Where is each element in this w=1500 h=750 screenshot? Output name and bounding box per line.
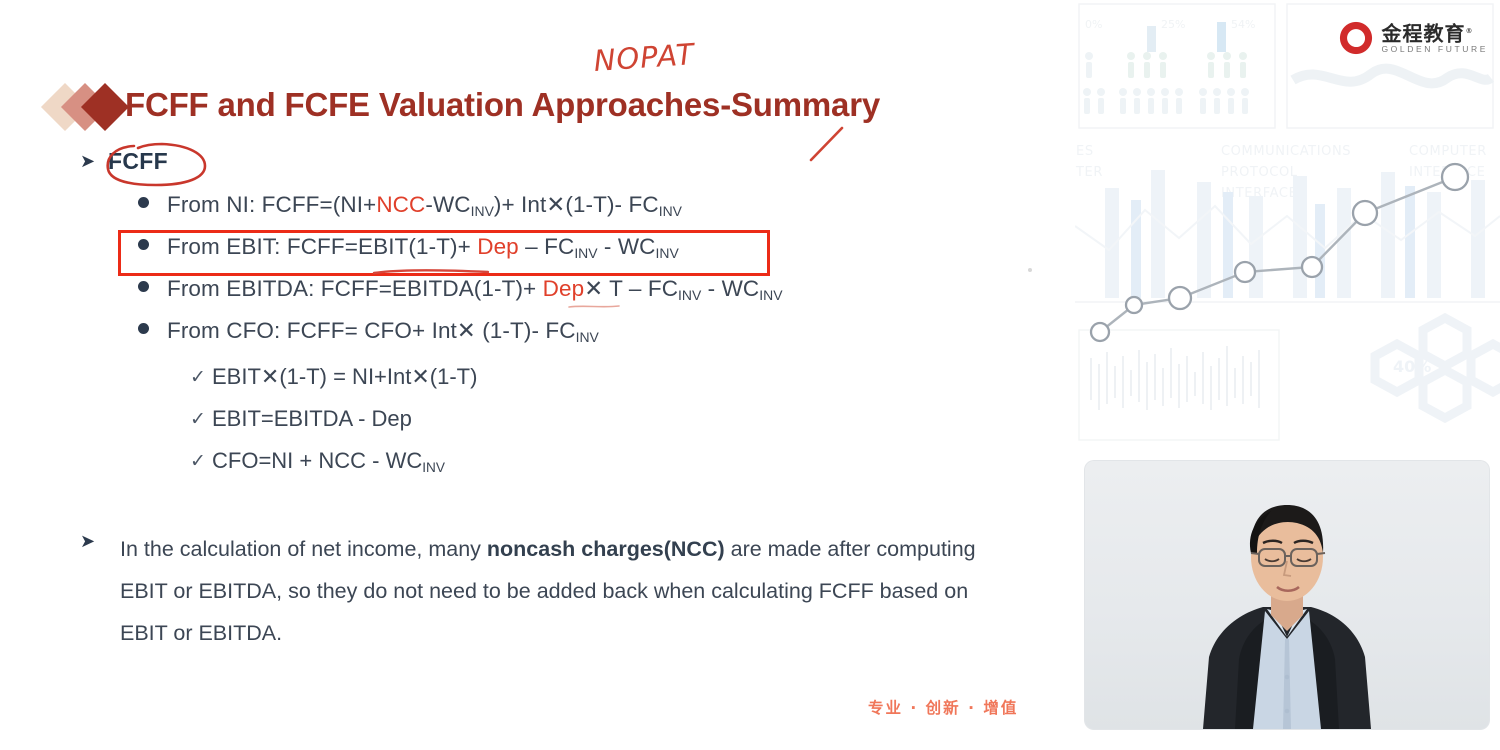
logo-chinese-name: 金程教育® bbox=[1381, 21, 1488, 45]
checkmark-icon: ✓ bbox=[190, 450, 212, 473]
handwritten-smudge-annotation bbox=[568, 304, 620, 309]
list-item: From CFO: FCFF= CFO+ Int✕ (1-T)- FCINV bbox=[138, 318, 898, 360]
page-title: FCFF and FCFE Valuation Approaches-Summa… bbox=[125, 86, 880, 124]
handwritten-slash-annotation bbox=[808, 126, 846, 162]
checkmark-icon: ✓ bbox=[190, 408, 212, 431]
list-item: From EBITDA: FCFF=EBITDA(1-T)+ Dep✕ T – … bbox=[138, 276, 898, 318]
svg-text:TER: TER bbox=[1075, 165, 1103, 180]
summary-paragraph-block: ➤ In the calculation of net income, many… bbox=[80, 528, 1000, 654]
svg-text:COMPUTER: COMPUTER bbox=[1409, 144, 1487, 159]
brand-logo: G 金程教育® GOLDEN FUTURE bbox=[1338, 20, 1488, 56]
handwritten-underline-annotation bbox=[372, 268, 490, 275]
svg-text:COMMUNICATIONS: COMMUNICATIONS bbox=[1221, 144, 1351, 159]
svg-text:ES: ES bbox=[1076, 144, 1094, 159]
bullet-text: From EBITDA: FCFF=EBITDA(1-T)+ Dep✕ T – … bbox=[167, 276, 783, 302]
webcam-video-feed[interactable] bbox=[1085, 461, 1489, 729]
identity-check-list: ✓ EBIT✕(1-T) = NI+Int✕(1-T) ✓ EBIT=EBITD… bbox=[190, 364, 477, 490]
formula-bullet-list: From NI: FCFF=(NI+NCC-WCINV)+ Int✕(1-T)-… bbox=[138, 192, 898, 360]
logo-monogram: G bbox=[1338, 20, 1374, 56]
arrow-bullet-icon: ➤ bbox=[80, 148, 98, 170]
stray-dot-mark bbox=[1028, 268, 1032, 272]
list-item: ✓ CFO=NI + NCC - WCINV bbox=[190, 448, 477, 490]
list-item: ✓ EBIT=EBITDA - Dep bbox=[190, 406, 477, 448]
logo-english-name: GOLDEN FUTURE bbox=[1381, 44, 1488, 55]
bullet-dot-icon bbox=[138, 281, 149, 292]
right-panel: 0%25%54% ES TER COMMUNICATIONS PROTOCOL … bbox=[1075, 0, 1500, 750]
svg-text:25%: 25% bbox=[1161, 18, 1185, 31]
list-item: ✓ EBIT✕(1-T) = NI+Int✕(1-T) bbox=[190, 364, 477, 406]
instructor-figure bbox=[1085, 461, 1489, 729]
bullet-text: From CFO: FCFF= CFO+ Int✕ (1-T)- FCINV bbox=[167, 318, 599, 344]
summary-paragraph: In the calculation of net income, many n… bbox=[120, 528, 990, 654]
seal-icon: G bbox=[1338, 20, 1374, 56]
logo-text-block: 金程教育® GOLDEN FUTURE bbox=[1381, 21, 1488, 56]
check-text: EBIT✕(1-T) = NI+Int✕(1-T) bbox=[212, 364, 477, 390]
slide-screenshot: FCFF and FCFE Valuation Approaches-Summa… bbox=[0, 0, 1500, 750]
bullet-dot-icon bbox=[138, 197, 149, 208]
background-infographic-art: 0%25%54% ES TER COMMUNICATIONS PROTOCOL … bbox=[1075, 0, 1500, 460]
svg-text:PROTOCOL: PROTOCOL bbox=[1221, 165, 1298, 180]
list-item: From NI: FCFF=(NI+NCC-WCINV)+ Int✕(1-T)-… bbox=[138, 192, 898, 234]
bullet-text: From NI: FCFF=(NI+NCC-WCINV)+ Int✕(1-T)-… bbox=[167, 192, 682, 218]
svg-text:54%: 54% bbox=[1231, 18, 1255, 31]
presentation-slide: FCFF and FCFE Valuation Approaches-Summa… bbox=[0, 0, 1075, 750]
bullet-dot-icon bbox=[138, 323, 149, 334]
svg-text:0%: 0% bbox=[1085, 18, 1102, 31]
svg-text:40%: 40% bbox=[1393, 357, 1431, 376]
checkmark-icon: ✓ bbox=[190, 366, 212, 389]
footer-tagline: 专业 · 创新 · 增值 bbox=[868, 696, 1018, 718]
arrow-bullet-icon: ➤ bbox=[80, 528, 98, 550]
check-text: EBIT=EBITDA - Dep bbox=[212, 406, 412, 432]
handwritten-nopat-annotation: NOPAT bbox=[593, 37, 696, 78]
handwritten-circle-annotation bbox=[104, 140, 210, 188]
check-text: CFO=NI + NCC - WCINV bbox=[212, 448, 445, 474]
